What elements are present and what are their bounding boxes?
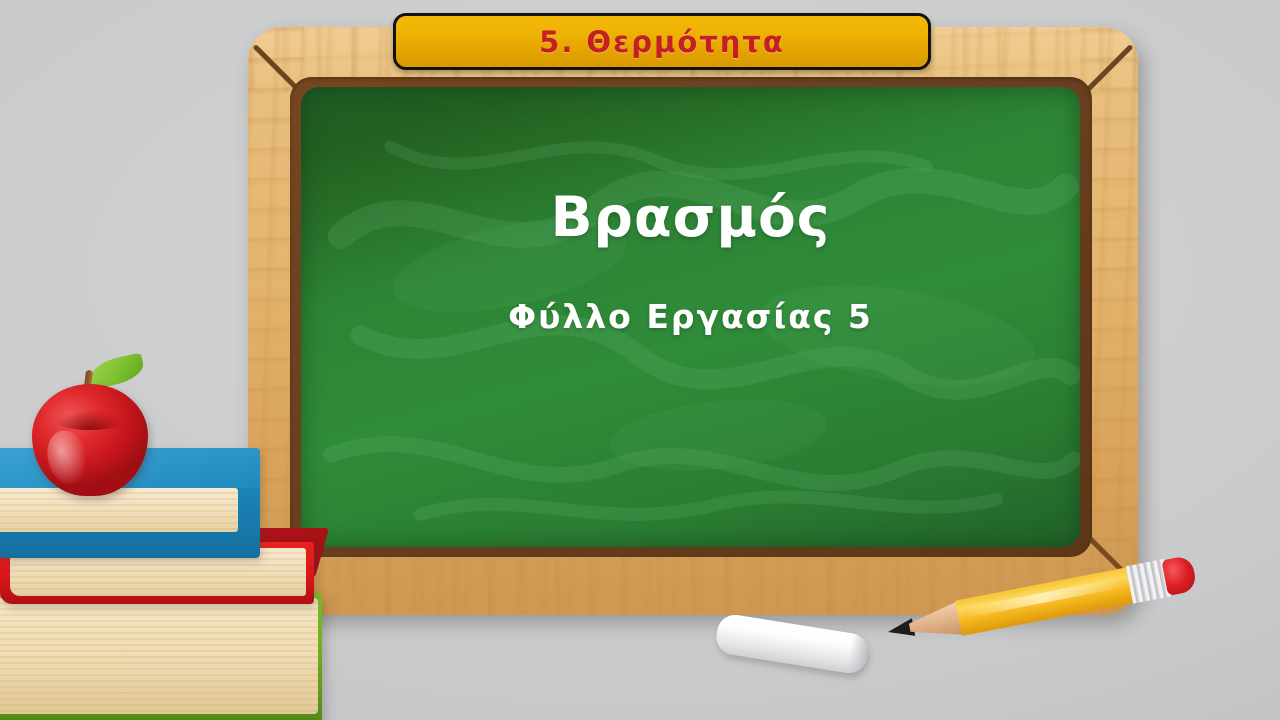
lesson-title-label: 5. Θερμότητα (539, 25, 785, 59)
apple-icon (32, 356, 148, 496)
pencil-wood (906, 601, 964, 644)
apple-highlight (41, 426, 95, 491)
apple-body (32, 384, 148, 496)
board-text-block: Βρασμός Φύλλο Εργασίας 5 (301, 87, 1080, 547)
chalk-icon (714, 612, 870, 675)
green-book-pages (0, 598, 318, 714)
lesson-title-banner[interactable]: 5. Θερμότητα (393, 13, 931, 70)
apple-dimple (54, 410, 126, 430)
page-lines (0, 598, 318, 714)
pencil-eraser (1161, 555, 1197, 596)
chalkboard-surface: Βρασμός Φύλλο Εργασίας 5 (301, 87, 1080, 547)
chalkboard-assembly: Βρασμός Φύλλο Εργασίας 5 (248, 27, 1138, 615)
board-title: Βρασμός (551, 185, 831, 249)
board-subtitle: Φύλλο Εργασίας 5 (508, 297, 873, 336)
